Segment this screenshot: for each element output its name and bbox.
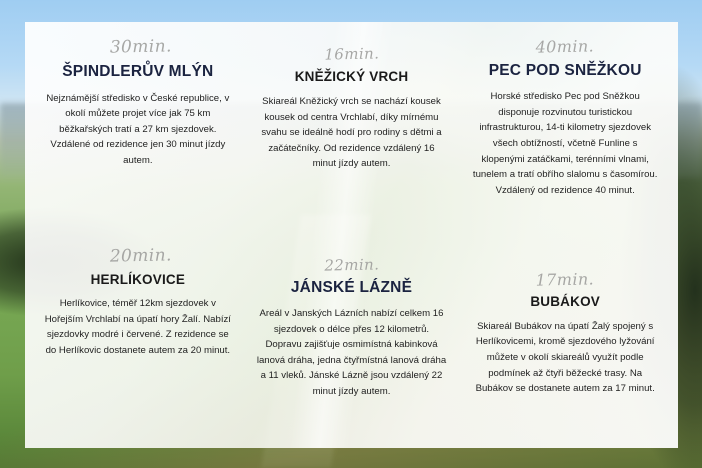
resort-description: Horské středisko Pec pod Sněžkou disponu… — [470, 89, 660, 198]
resort-description: Herlíkovice, téměř 12km sjezdovek v Hoře… — [43, 296, 233, 358]
travel-time-label: 40min. — [470, 36, 660, 58]
travel-time-label: 30min. — [49, 36, 233, 59]
resort-title: ŠPINDLERŮV MLÝN — [43, 63, 233, 81]
resort-title: BUBÁKOV — [470, 294, 660, 310]
resort-title: HERLÍKOVICE — [43, 272, 233, 288]
resort-description: Skiareál Kněžický vrch se nachází kousek… — [257, 94, 447, 172]
travel-time-label: 17min. — [470, 269, 660, 291]
resort-title: PEC POD SNĚŽKOU — [470, 62, 660, 80]
resort-description: Areál v Janských Lázních nabízí celkem 1… — [257, 306, 447, 399]
resort-card-knezicky-vrch: 16min. KNĚŽICKÝ VRCH Skiareál Kněžický v… — [245, 32, 459, 247]
travel-time-label: 20min. — [49, 245, 233, 268]
travel-time-label: 16min. — [257, 44, 447, 64]
resort-title: JÁNSKÉ LÁZNĚ — [257, 279, 447, 297]
resort-card-herlikovice: 20min. HERLÍKOVICE Herlíkovice, téměř 12… — [31, 247, 245, 448]
resort-title: KNĚŽICKÝ VRCH — [257, 69, 447, 85]
ski-resorts-grid: 30min. ŠPINDLERŮV MLÝN Nejznámější střed… — [25, 22, 678, 448]
page-root: 30min. ŠPINDLERŮV MLÝN Nejznámější střed… — [0, 0, 702, 468]
resort-description: Skiareál Bubákov na úpatí Žalý spojený s… — [470, 319, 660, 397]
resort-card-janske-lazne: 22min. JÁNSKÉ LÁZNĚ Areál v Janských Láz… — [245, 247, 459, 448]
resort-description: Nejznámější středisko v České republice,… — [43, 91, 233, 169]
resort-card-spindleruv-mlyn: 30min. ŠPINDLERŮV MLÝN Nejznámější střed… — [31, 32, 245, 247]
resort-card-pec-pod-snezkou: 40min. PEC POD SNĚŽKOU Horské středisko … — [458, 32, 672, 247]
travel-time-label: 22min. — [257, 255, 447, 275]
content-overlay-panel: 30min. ŠPINDLERŮV MLÝN Nejznámější střed… — [25, 22, 678, 448]
resort-card-bubakov: 17min. BUBÁKOV Skiareál Bubákov na úpatí… — [458, 247, 672, 448]
